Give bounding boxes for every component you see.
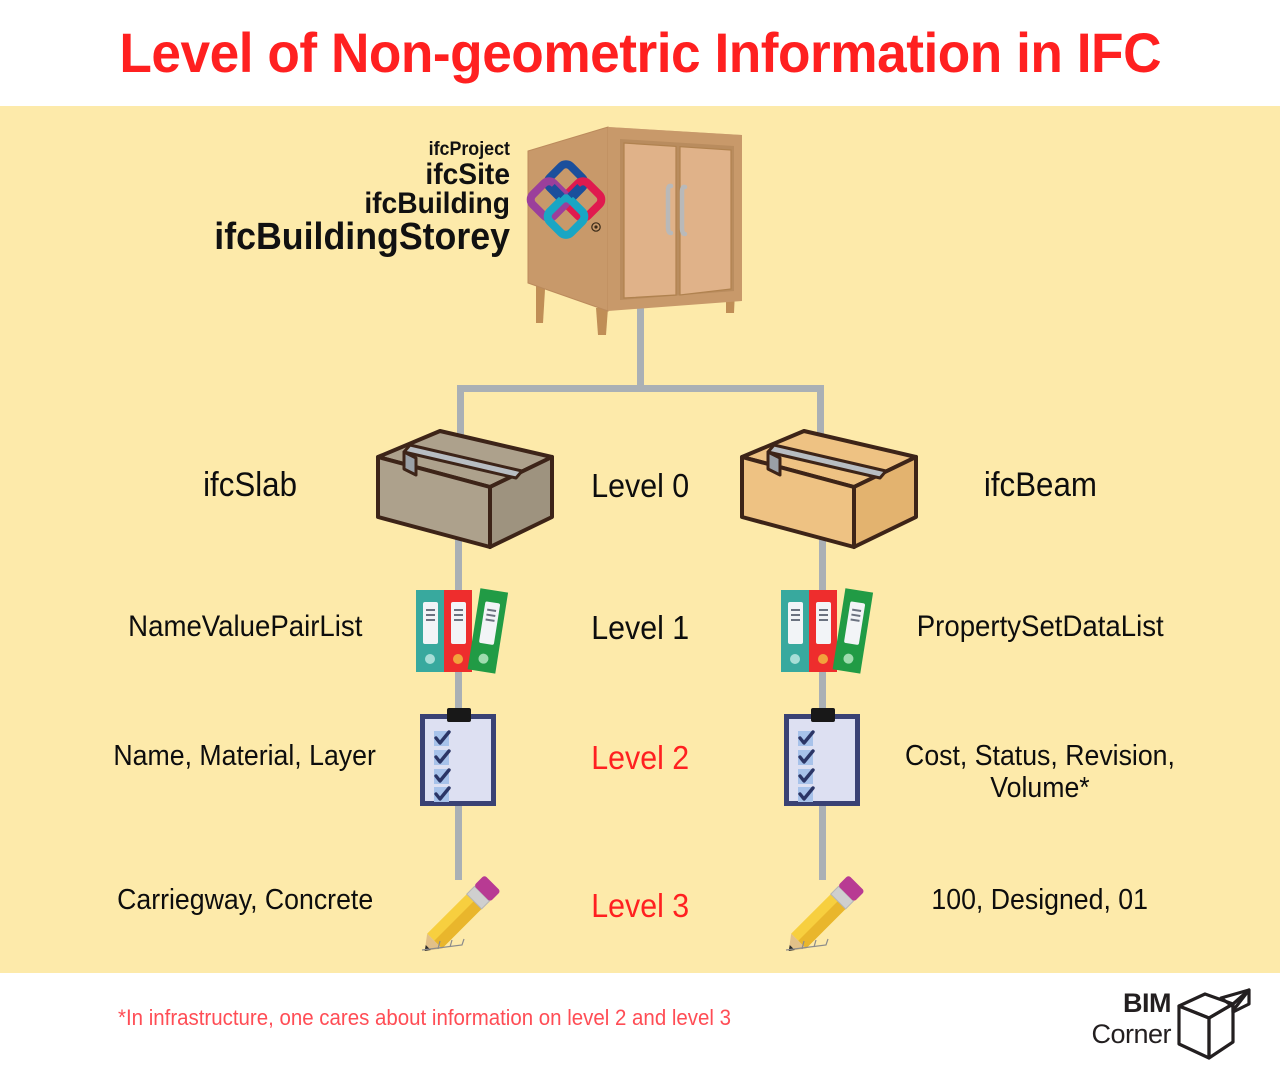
level2-right-label-line1: Cost, Status, Revision, bbox=[893, 740, 1187, 772]
level2-right-label-line2: Volume* bbox=[893, 772, 1187, 804]
ifc-label-project: ifcProject bbox=[143, 140, 510, 159]
bim-corner-logo[interactable]: BIM Corner bbox=[1083, 988, 1253, 1063]
open-box-icon bbox=[1175, 988, 1253, 1062]
level0-center-text: Level 0 bbox=[591, 468, 689, 504]
level1-right-label-text: PropertySetDataList bbox=[917, 610, 1164, 644]
level1-binders-right-icon bbox=[775, 580, 875, 680]
level3-pencil-right-icon bbox=[768, 866, 878, 971]
level1-binders-left-icon bbox=[410, 580, 510, 680]
level0-box-right-icon bbox=[734, 425, 924, 560]
level1-left-label-text: NameValuePairList bbox=[128, 610, 362, 644]
level0-left-label-text: ifcSlab bbox=[203, 466, 297, 504]
level0-right-label: ifcBeam bbox=[900, 466, 1180, 504]
level0-box-left-icon bbox=[370, 425, 560, 560]
level2-center-label: Level 2 bbox=[560, 740, 720, 776]
level2-right-label: Cost, Status, Revision, Volume* bbox=[880, 740, 1200, 805]
cabinet-icon bbox=[512, 123, 752, 343]
ifc-label-buildingstorey: ifcBuildingStorey bbox=[143, 218, 510, 257]
level3-center-text: Level 3 bbox=[591, 888, 689, 924]
level2-left-label-text: Name, Material, Layer bbox=[114, 740, 376, 772]
level2-clipboard-right-icon bbox=[778, 706, 868, 816]
level3-right-label: 100, Designed, 01 bbox=[880, 884, 1200, 916]
level2-left-label: Name, Material, Layer bbox=[80, 740, 410, 772]
level1-center-text: Level 1 bbox=[591, 610, 689, 646]
bim-corner-wordmark: BIM Corner bbox=[1083, 990, 1171, 1048]
bim-corner-line2: Corner bbox=[1083, 1021, 1171, 1048]
level2-clipboard-left-icon bbox=[414, 706, 504, 816]
level3-pencil-left-icon bbox=[404, 866, 514, 971]
footnote-text: *In infrastructure, one cares about info… bbox=[118, 1005, 731, 1031]
level3-right-label-text: 100, Designed, 01 bbox=[932, 884, 1149, 916]
level3-left-label-text: Carriegway, Concrete bbox=[117, 884, 373, 916]
level3-left-label: Carriegway, Concrete bbox=[80, 884, 410, 916]
diagram-canvas: Level of Non-geometric Information in IF… bbox=[0, 0, 1280, 1073]
level1-center-label: Level 1 bbox=[560, 610, 720, 646]
level3-center-label: Level 3 bbox=[560, 888, 720, 924]
level1-left-label: NameValuePairList bbox=[80, 610, 410, 644]
level0-left-label: ifcSlab bbox=[120, 466, 380, 504]
title-bar: Level of Non-geometric Information in IF… bbox=[0, 0, 1280, 106]
page-title: Level of Non-geometric Information in IF… bbox=[119, 25, 1161, 81]
level1-right-label: PropertySetDataList bbox=[880, 610, 1200, 644]
level2-center-text: Level 2 bbox=[591, 740, 689, 776]
level0-center-label: Level 0 bbox=[560, 468, 720, 504]
ifc-hierarchy-labels: ifcProject ifcSite ifcBuilding ifcBuildi… bbox=[120, 140, 510, 256]
bim-corner-line1: BIM bbox=[1083, 990, 1171, 1017]
level0-right-label-text: ifcBeam bbox=[983, 466, 1096, 504]
connector-horizontal-branch bbox=[457, 385, 824, 392]
